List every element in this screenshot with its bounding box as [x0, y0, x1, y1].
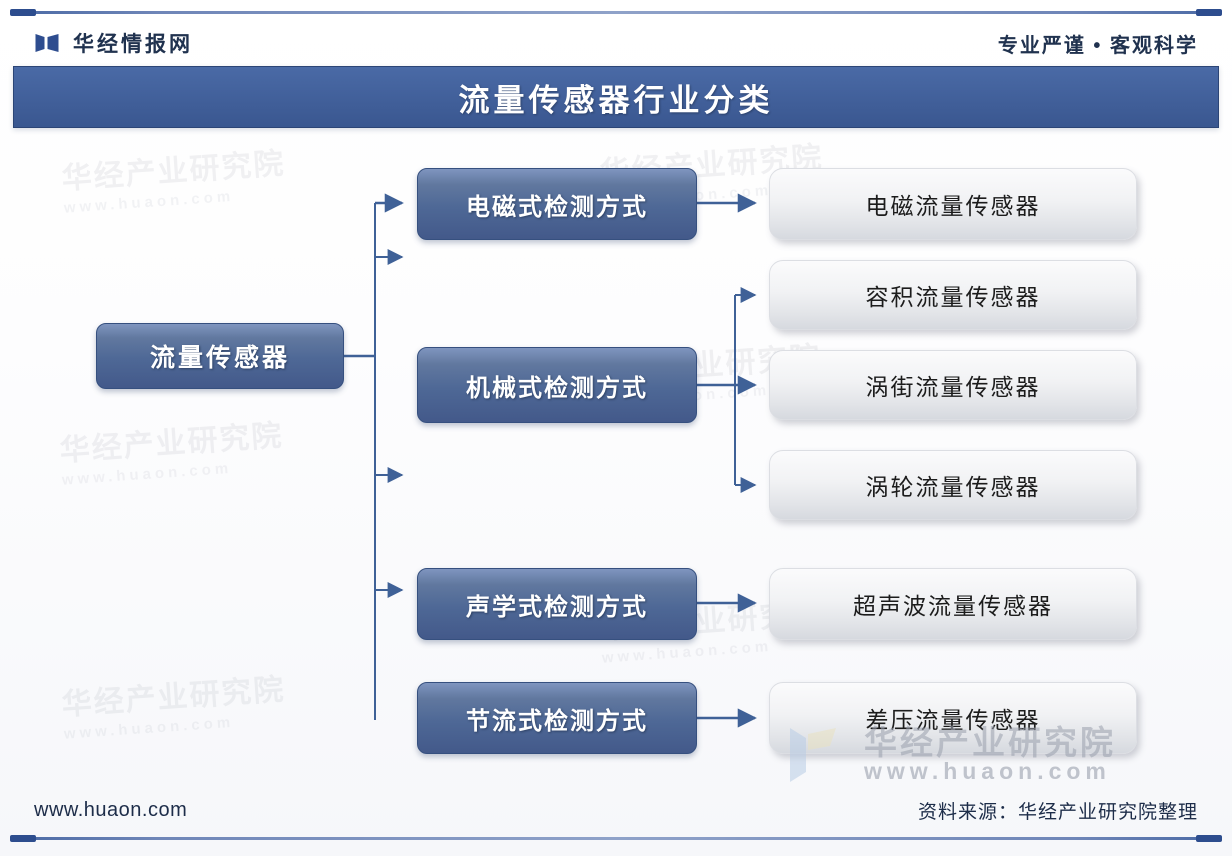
node-branch-label: 电磁式检测方式	[466, 187, 648, 222]
node-branch-electromagnetic[interactable]: 电磁式检测方式	[417, 168, 697, 240]
node-leaf-electromagnetic-sensor[interactable]: 电磁流量传感器	[769, 168, 1137, 240]
page-footer: www.huaon.com 资料来源：华经产业研究院整理	[0, 790, 1232, 830]
node-leaf-label: 容积流量传感器	[866, 278, 1041, 312]
node-leaf-label: 差压流量传感器	[866, 701, 1041, 735]
poster-page: 华经产业研究院 www.huaon.com 华经产业研究院 www.huaon.…	[0, 0, 1232, 856]
bottom-divider	[14, 837, 1218, 840]
brand: 华经情报网	[34, 28, 193, 58]
node-leaf-volumetric-sensor[interactable]: 容积流量传感器	[769, 260, 1137, 330]
top-divider	[14, 11, 1218, 14]
huajing-ribbon-logo-icon	[34, 31, 60, 55]
node-branch-mechanical[interactable]: 机械式检测方式	[417, 347, 697, 423]
brand-name: 华经情报网	[73, 28, 193, 58]
node-branch-label: 节流式检测方式	[466, 701, 648, 736]
node-leaf-differential-pressure-sensor[interactable]: 差压流量传感器	[769, 682, 1137, 754]
classification-diagram: 流量传感器 电磁式检测方式 机械式检测方式 声学式检测方式 节流式检测方式 电磁…	[0, 128, 1232, 783]
title-bar: 流量传感器行业分类	[13, 66, 1219, 128]
page-title: 流量传感器行业分类	[459, 75, 774, 120]
node-branch-throttle[interactable]: 节流式检测方式	[417, 682, 697, 754]
node-leaf-label: 涡轮流量传感器	[866, 468, 1041, 502]
node-leaf-vortex-sensor[interactable]: 涡街流量传感器	[769, 350, 1137, 420]
node-branch-label: 机械式检测方式	[466, 368, 648, 403]
node-leaf-label: 电磁流量传感器	[866, 187, 1041, 221]
footer-site[interactable]: www.huaon.com	[34, 799, 187, 822]
footer-source: 资料来源：华经产业研究院整理	[918, 797, 1198, 824]
node-branch-acoustic[interactable]: 声学式检测方式	[417, 568, 697, 640]
page-header: 华经情报网 专业严谨 • 客观科学	[0, 22, 1232, 64]
node-root-label: 流量传感器	[150, 338, 290, 374]
header-slogan: 专业严谨 • 客观科学	[998, 29, 1198, 58]
node-leaf-turbine-sensor[interactable]: 涡轮流量传感器	[769, 450, 1137, 520]
node-leaf-ultrasonic-sensor[interactable]: 超声波流量传感器	[769, 568, 1137, 640]
node-branch-label: 声学式检测方式	[466, 587, 648, 622]
node-leaf-label: 超声波流量传感器	[853, 587, 1053, 621]
node-leaf-label: 涡街流量传感器	[866, 368, 1041, 402]
node-root[interactable]: 流量传感器	[96, 323, 344, 389]
